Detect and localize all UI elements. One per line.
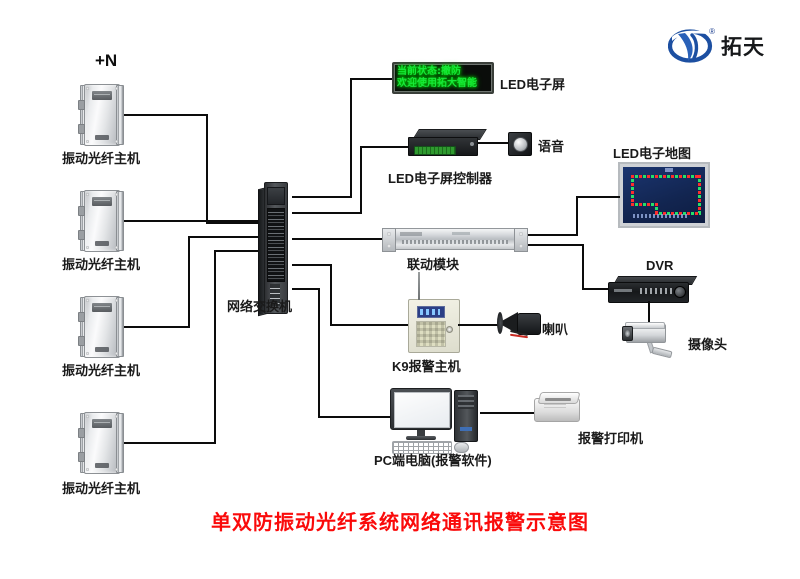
tuotian-swoosh-logo-icon: ® — [668, 28, 714, 64]
wire-host4-b — [214, 250, 216, 444]
host-1-label: 振动光纤主机 — [62, 148, 140, 167]
wire-sw-ledctl-a — [292, 212, 362, 214]
alarm-printer-icon — [534, 392, 580, 422]
led-map-label: LED电子地图 — [613, 143, 691, 162]
led-screen-label: LED电子屏 — [500, 74, 565, 93]
wire-sw-ledscreen-c — [350, 78, 394, 80]
wire-sw-k9-a — [292, 264, 332, 266]
led-screen-line-1: 当前状态:撤防 — [397, 66, 489, 78]
brand-name: 拓天 — [721, 31, 765, 61]
printer-label: 报警打印机 — [578, 428, 643, 447]
wire-pc-printer — [480, 412, 538, 414]
page-title: 单双防振动光纤系统网络通讯报警示意图 — [0, 506, 800, 535]
wire-host4-a — [124, 442, 216, 444]
led-electronic-map-icon — [618, 162, 710, 228]
diagram-canvas: ® 拓天 +N 振动光纤主机 振动光纤主机 振动光纤主机 振动光纤主机 — [0, 0, 800, 579]
wire-sw-ledctl-c — [360, 146, 410, 148]
vibration-fiber-host-2-icon — [80, 190, 124, 252]
wire-linkage-dvr-a — [528, 244, 584, 246]
host-2-label: 振动光纤主机 — [62, 254, 140, 273]
wire-sw-pc-a — [292, 288, 320, 290]
camera-label: 摄像头 — [688, 334, 727, 353]
wire-host3-a — [124, 326, 190, 328]
vibration-fiber-host-3-icon — [80, 296, 124, 358]
led-controller-box-icon — [408, 129, 480, 155]
k9-alarm-panel-icon — [408, 299, 460, 353]
bullet-camera-icon — [622, 322, 678, 356]
wire-host3-b — [188, 236, 190, 328]
registered-mark: ® — [709, 27, 715, 36]
dvr-label: DVR — [646, 258, 673, 273]
voice-label: 语音 — [538, 136, 564, 155]
wire-linkage-dvr-c — [582, 288, 610, 290]
wire-linkage-ledmap-a — [528, 234, 578, 236]
wire-sw-ledscreen-b — [350, 78, 352, 198]
wire-host1-b — [206, 114, 208, 224]
voice-speaker-icon — [508, 132, 532, 156]
vibration-fiber-host-1-icon — [80, 84, 124, 146]
linkage-label: 联动模块 — [407, 254, 459, 273]
vibration-fiber-host-4-icon — [80, 412, 124, 474]
wire-sw-pc-c — [318, 416, 390, 418]
wire-sw-k9-c — [330, 324, 408, 326]
pc-label: PC端电脑(报警软件) — [374, 450, 492, 469]
led-display-icon: 当前状态:撤防 欢迎使用拓大智能 — [392, 62, 494, 94]
linkage-module-rack-icon — [382, 228, 528, 250]
wire-host2 — [124, 220, 262, 222]
plus-n-label: +N — [95, 51, 117, 71]
wire-host4-c — [214, 250, 262, 252]
wire-sw-linkage — [292, 238, 382, 240]
wire-ledctl-voice — [478, 142, 510, 144]
wire-linkage-ledmap-b — [576, 196, 578, 236]
wire-sw-ledctl-b — [360, 146, 362, 214]
wire-host3-c — [188, 236, 262, 238]
host-4-label: 振动光纤主机 — [62, 478, 140, 497]
horn-label: 喇叭 — [542, 319, 568, 338]
wire-linkage-ledmap-c — [578, 196, 620, 198]
brand-logo: ® 拓天 — [668, 28, 765, 64]
led-controller-label: LED电子屏控制器 — [388, 168, 492, 187]
wire-k9-horn — [458, 324, 502, 326]
wire-host1-a — [124, 114, 208, 116]
switch-label: 网络交换机 — [227, 296, 292, 315]
dvr-recorder-icon — [608, 276, 692, 302]
led-screen-line-2: 欢迎使用拓大智能 — [397, 78, 489, 90]
k9-label: K9报警主机 — [392, 356, 461, 375]
wire-sw-ledscreen-a — [292, 196, 352, 198]
wire-sw-pc-b — [318, 288, 320, 418]
wire-sw-k9-b — [330, 264, 332, 326]
desktop-computer-icon — [390, 388, 494, 452]
network-switch-icon — [258, 182, 292, 312]
host-3-label: 振动光纤主机 — [62, 360, 140, 379]
horn-speaker-icon — [498, 309, 546, 339]
wire-host1-c — [206, 222, 262, 224]
wire-linkage-dvr-b — [582, 244, 584, 290]
